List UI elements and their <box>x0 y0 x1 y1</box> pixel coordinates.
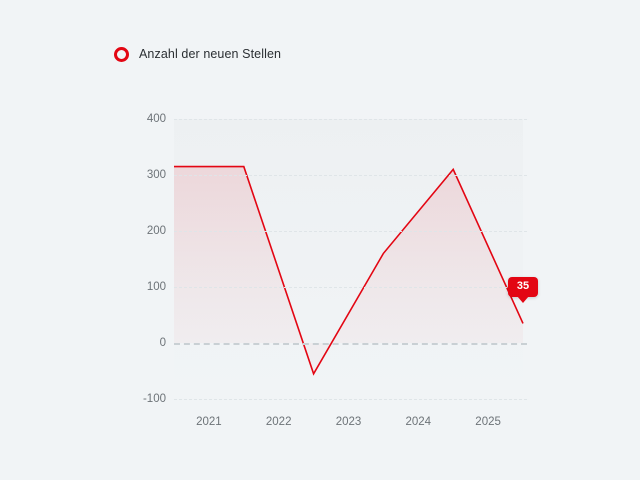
gridline <box>174 343 527 345</box>
legend-label: Anzahl der neuen Stellen <box>139 47 281 61</box>
circle-outline-icon <box>114 47 129 62</box>
gridline <box>174 119 527 120</box>
y-axis-tick-label: -100 <box>126 393 166 405</box>
x-axis-tick-label: 2025 <box>475 416 501 428</box>
y-axis-tick-label: 300 <box>126 169 166 181</box>
x-axis-tick-label: 2024 <box>406 416 432 428</box>
y-axis: 4003002001000-100 <box>108 119 166 399</box>
chart-legend[interactable]: Anzahl der neuen Stellen <box>114 44 281 64</box>
plot-area <box>174 119 523 399</box>
x-axis-tick-label: 2021 <box>196 416 222 428</box>
gridline <box>174 287 527 288</box>
gridline <box>174 175 527 176</box>
y-axis-tick-label: 200 <box>126 225 166 237</box>
x-axis-tick-label: 2023 <box>336 416 362 428</box>
x-axis-tick-label: 2022 <box>266 416 292 428</box>
data-point-tooltip[interactable]: 35 <box>508 277 538 297</box>
series-anzahl-der-neuen-stellen <box>174 119 523 399</box>
tooltip-value: 35 <box>517 280 529 292</box>
y-axis-tick-label: 0 <box>126 337 166 349</box>
chart-page: Anzahl der neuen Stellen 4003002001000-1… <box>0 0 640 480</box>
y-axis-tick-label: 400 <box>126 113 166 125</box>
x-axis: 20212022202320242025 <box>0 416 640 434</box>
y-axis-tick-label: 100 <box>126 281 166 293</box>
gridline <box>174 399 527 400</box>
gridline <box>174 231 527 232</box>
